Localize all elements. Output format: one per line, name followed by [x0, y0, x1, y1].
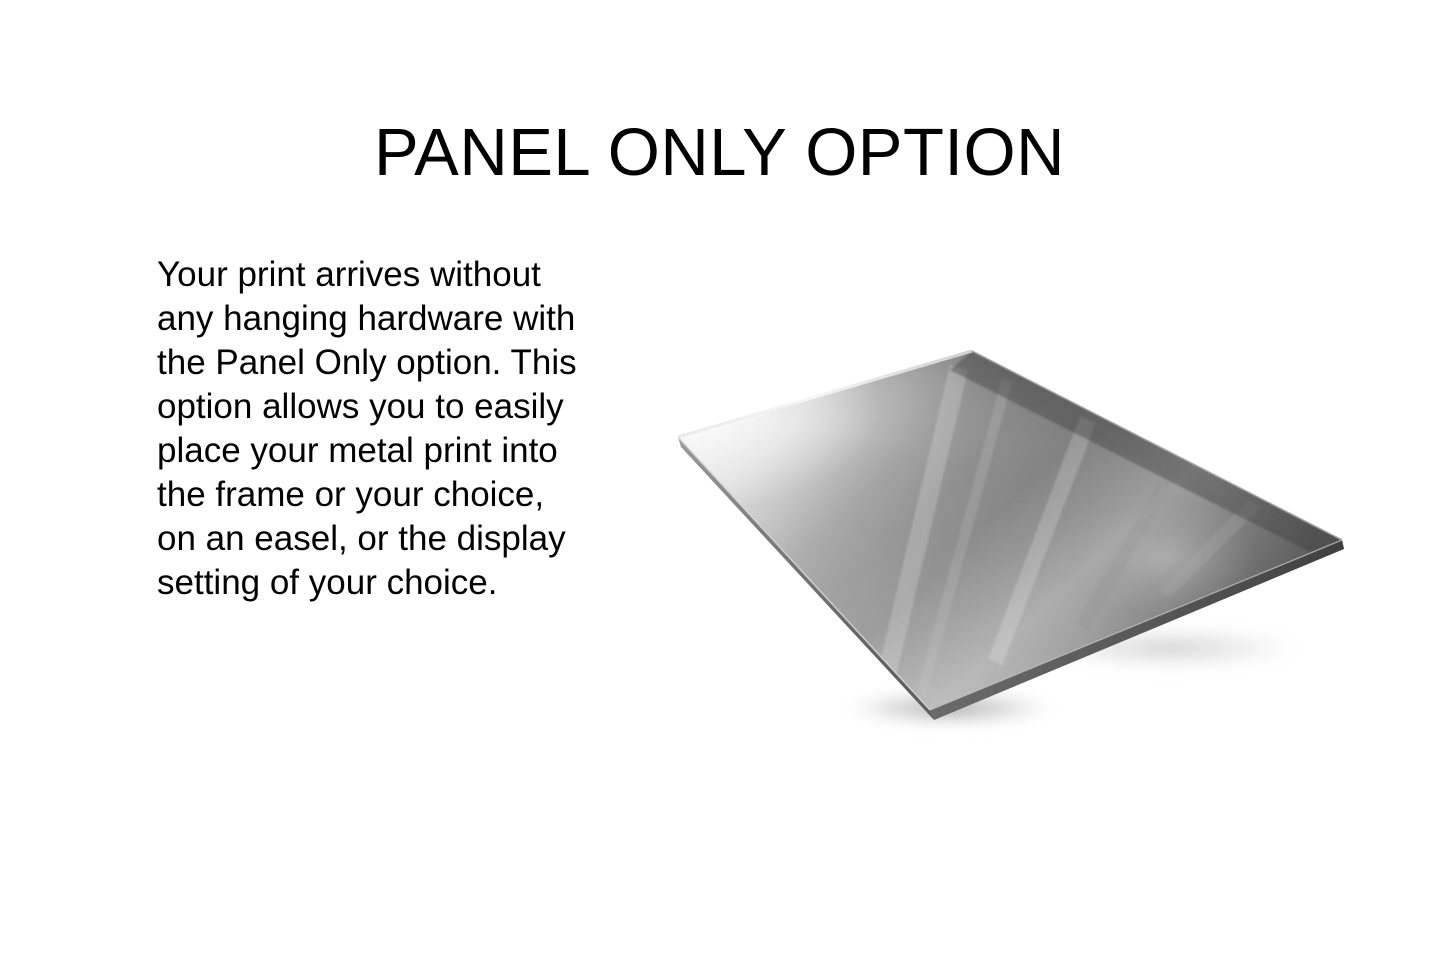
- body-text-block: Your print arrives without any hanging h…: [157, 253, 587, 605]
- slide-canvas: PANEL ONLY OPTION Your print arrives wit…: [0, 0, 1445, 963]
- metal-panel-illustration: [650, 330, 1370, 740]
- body-paragraph: Your print arrives without any hanging h…: [157, 253, 587, 605]
- page-title: PANEL ONLY OPTION: [0, 119, 1442, 186]
- metal-print-panel-figure: [650, 330, 1370, 740]
